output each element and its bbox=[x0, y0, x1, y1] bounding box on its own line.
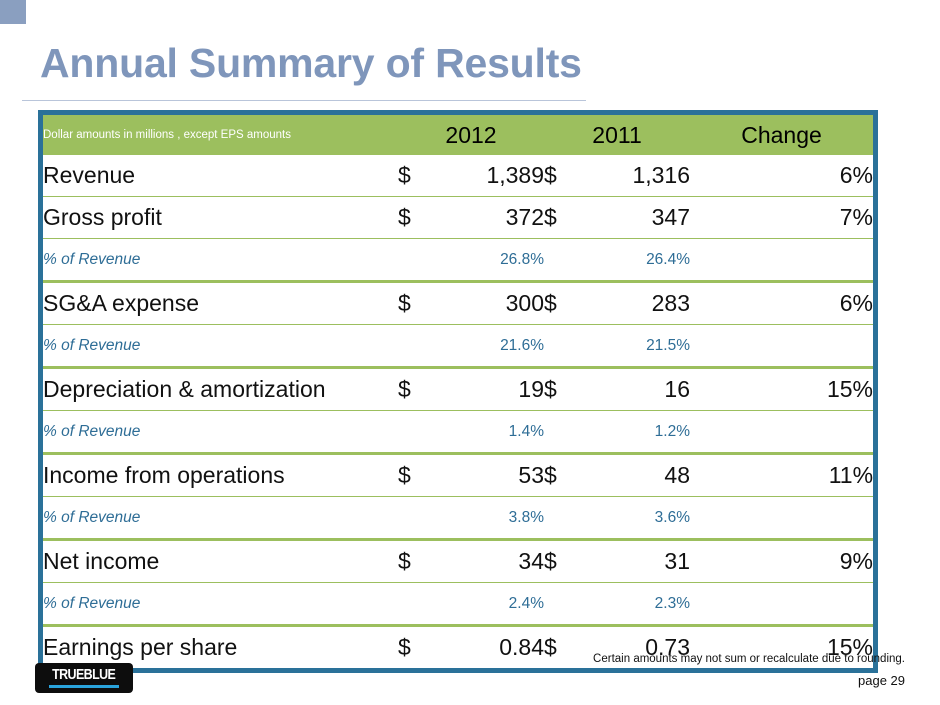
row-currency-2012: $ bbox=[398, 155, 436, 197]
table-subrow: % of Revenue 1.4% 1.2% bbox=[43, 411, 873, 454]
row-value-2012: 1,389 bbox=[436, 155, 544, 197]
row-currency-2011: $ bbox=[544, 155, 582, 197]
row-value-2011: 16 bbox=[582, 368, 690, 411]
row-value-2012: 300 bbox=[436, 282, 544, 325]
header-col-2012: 2012 bbox=[398, 115, 544, 155]
row-change: 7% bbox=[690, 197, 873, 239]
subrow-currency-2011 bbox=[544, 239, 582, 282]
footnote: Certain amounts may not sum or recalcula… bbox=[0, 653, 905, 665]
row-currency-2012: $ bbox=[398, 282, 436, 325]
subrow-label: % of Revenue bbox=[43, 239, 398, 282]
row-label: SG&A expense bbox=[43, 282, 398, 325]
row-label: Income from operations bbox=[43, 454, 398, 497]
subrow-currency-2011 bbox=[544, 497, 582, 540]
subrow-label: % of Revenue bbox=[43, 325, 398, 368]
row-change: 9% bbox=[690, 540, 873, 583]
subrow-currency-2012 bbox=[398, 411, 436, 454]
row-change: 15% bbox=[690, 368, 873, 411]
table-row: SG&A expense $ 300 $ 283 6% bbox=[43, 282, 873, 325]
row-currency-2011: $ bbox=[544, 540, 582, 583]
row-label: Net income bbox=[43, 540, 398, 583]
subrow-value-2011: 3.6% bbox=[582, 497, 690, 540]
subrow-value-2011: 1.2% bbox=[582, 411, 690, 454]
row-currency-2011: $ bbox=[544, 197, 582, 239]
table-row: Gross profit $ 372 $ 347 7% bbox=[43, 197, 873, 239]
financial-summary-table: Dollar amounts in millions , except EPS … bbox=[38, 110, 878, 673]
table-row: Depreciation & amortization $ 19 $ 16 15… bbox=[43, 368, 873, 411]
subrow-value-2011: 21.5% bbox=[582, 325, 690, 368]
page-title: Annual Summary of Results bbox=[40, 40, 582, 87]
row-currency-2011: $ bbox=[544, 282, 582, 325]
header-col-change: Change bbox=[690, 115, 873, 155]
subrow-change bbox=[690, 325, 873, 368]
row-value-2011: 283 bbox=[582, 282, 690, 325]
subrow-value-2012: 2.4% bbox=[436, 583, 544, 626]
row-value-2012: 34 bbox=[436, 540, 544, 583]
row-value-2012: 372 bbox=[436, 197, 544, 239]
row-currency-2012: $ bbox=[398, 454, 436, 497]
header-col-2011: 2011 bbox=[544, 115, 690, 155]
row-label: Depreciation & amortization bbox=[43, 368, 398, 411]
title-divider bbox=[22, 100, 586, 101]
subrow-value-2011: 26.4% bbox=[582, 239, 690, 282]
row-value-2012: 53 bbox=[436, 454, 544, 497]
page-number: page 29 bbox=[0, 673, 905, 688]
table-body: Dollar amounts in millions , except EPS … bbox=[43, 115, 873, 668]
row-change: 6% bbox=[690, 155, 873, 197]
table-header-row: Dollar amounts in millions , except EPS … bbox=[43, 115, 873, 155]
decorative-corner-square bbox=[0, 0, 26, 24]
row-label: Gross profit bbox=[43, 197, 398, 239]
subrow-label: % of Revenue bbox=[43, 583, 398, 626]
subrow-currency-2012 bbox=[398, 497, 436, 540]
subrow-value-2011: 2.3% bbox=[582, 583, 690, 626]
subrow-label: % of Revenue bbox=[43, 411, 398, 454]
subrow-currency-2011 bbox=[544, 325, 582, 368]
row-label: Revenue bbox=[43, 155, 398, 197]
subrow-currency-2012 bbox=[398, 325, 436, 368]
row-currency-2012: $ bbox=[398, 197, 436, 239]
subrow-value-2012: 3.8% bbox=[436, 497, 544, 540]
row-change: 11% bbox=[690, 454, 873, 497]
subrow-change bbox=[690, 411, 873, 454]
subrow-currency-2011 bbox=[544, 583, 582, 626]
row-value-2011: 347 bbox=[582, 197, 690, 239]
subrow-value-2012: 1.4% bbox=[436, 411, 544, 454]
header-note: Dollar amounts in millions , except EPS … bbox=[43, 115, 398, 155]
table-subrow: % of Revenue 21.6% 21.5% bbox=[43, 325, 873, 368]
subrow-currency-2012 bbox=[398, 239, 436, 282]
table-row: Revenue $ 1,389 $ 1,316 6% bbox=[43, 155, 873, 197]
subrow-value-2012: 21.6% bbox=[436, 325, 544, 368]
subrow-change bbox=[690, 497, 873, 540]
subrow-currency-2011 bbox=[544, 411, 582, 454]
table-subrow: % of Revenue 2.4% 2.3% bbox=[43, 583, 873, 626]
subrow-change bbox=[690, 239, 873, 282]
row-currency-2012: $ bbox=[398, 368, 436, 411]
row-value-2011: 48 bbox=[582, 454, 690, 497]
row-change: 6% bbox=[690, 282, 873, 325]
row-value-2011: 31 bbox=[582, 540, 690, 583]
table-row: Net income $ 34 $ 31 9% bbox=[43, 540, 873, 583]
row-value-2011: 1,316 bbox=[582, 155, 690, 197]
table-subrow: % of Revenue 3.8% 3.6% bbox=[43, 497, 873, 540]
table-row: Income from operations $ 53 $ 48 11% bbox=[43, 454, 873, 497]
subrow-currency-2012 bbox=[398, 583, 436, 626]
subrow-change bbox=[690, 583, 873, 626]
row-currency-2012: $ bbox=[398, 540, 436, 583]
table-subrow: % of Revenue 26.8% 26.4% bbox=[43, 239, 873, 282]
subrow-value-2012: 26.8% bbox=[436, 239, 544, 282]
subrow-label: % of Revenue bbox=[43, 497, 398, 540]
row-currency-2011: $ bbox=[544, 454, 582, 497]
row-value-2012: 19 bbox=[436, 368, 544, 411]
row-currency-2011: $ bbox=[544, 368, 582, 411]
